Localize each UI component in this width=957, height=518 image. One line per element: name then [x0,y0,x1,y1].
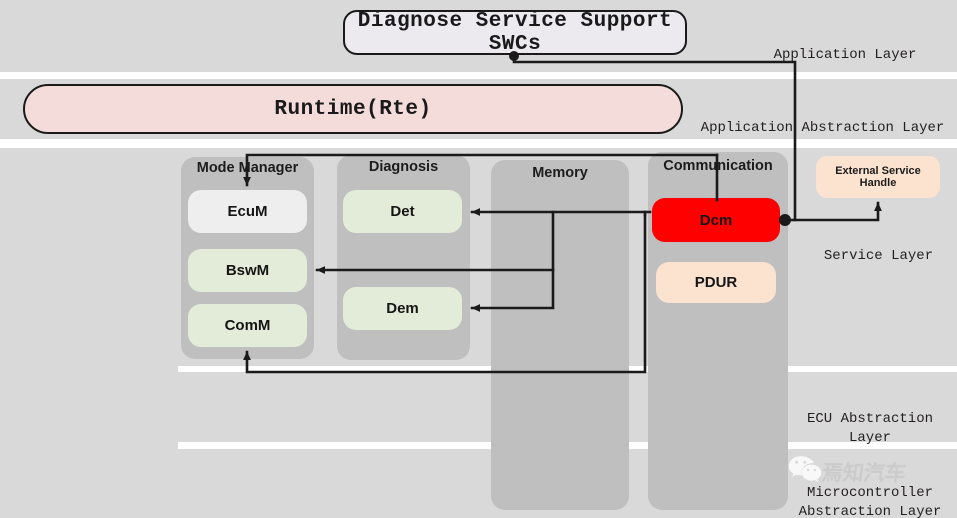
column-memory [491,160,629,510]
column-title-memory: Memory [491,165,629,181]
module-label-dcm: Dcm [700,212,733,229]
column-title-communication: Communication [644,158,792,174]
application-abstraction-layer-label: Application Abstraction Layer [690,100,955,138]
diagnose-service-support-swcs-box[interactable]: Diagnose Service Support SWCs [343,10,687,55]
module-label-ecum: EcuM [227,203,267,220]
module-ecum[interactable]: EcuM [188,190,307,233]
module-dem[interactable]: Dem [343,287,462,330]
module-comm[interactable]: ComM [188,304,307,347]
rte-bar-label: Runtime(Rte) [274,98,431,121]
column-title-diagnosis: Diagnosis [337,159,470,175]
module-pdur[interactable]: PDUR [656,262,776,303]
autosar-diagram: Diagnose Service Support SWCs Applicatio… [0,0,957,518]
application-layer-label: Application Layer [735,27,955,65]
rte-bar[interactable]: Runtime(Rte) [23,84,683,134]
module-dcm[interactable]: Dcm [652,198,780,242]
external-service-handle-label: External Service Handle [816,165,940,189]
module-bswm[interactable]: BswM [188,249,307,292]
ecu-abstraction-layer-label: ECU Abstraction Layer [790,391,950,448]
module-label-dem: Dem [386,300,419,317]
module-label-pdur: PDUR [695,274,738,291]
service-layer-label: Service Layer [796,228,957,266]
module-label-bswm: BswM [226,262,269,279]
mcal-layer-label: Microcontroller Abstraction Layer [790,465,950,518]
swc-box-label: Diagnose Service Support SWCs [345,10,685,56]
module-label-comm: ComM [225,317,271,334]
band-left-filler [0,148,178,518]
external-service-handle-box[interactable]: External Service Handle [816,156,940,198]
module-label-det: Det [390,203,414,220]
column-title-mode-manager: Mode Manager [181,160,314,176]
module-det[interactable]: Det [343,190,462,233]
